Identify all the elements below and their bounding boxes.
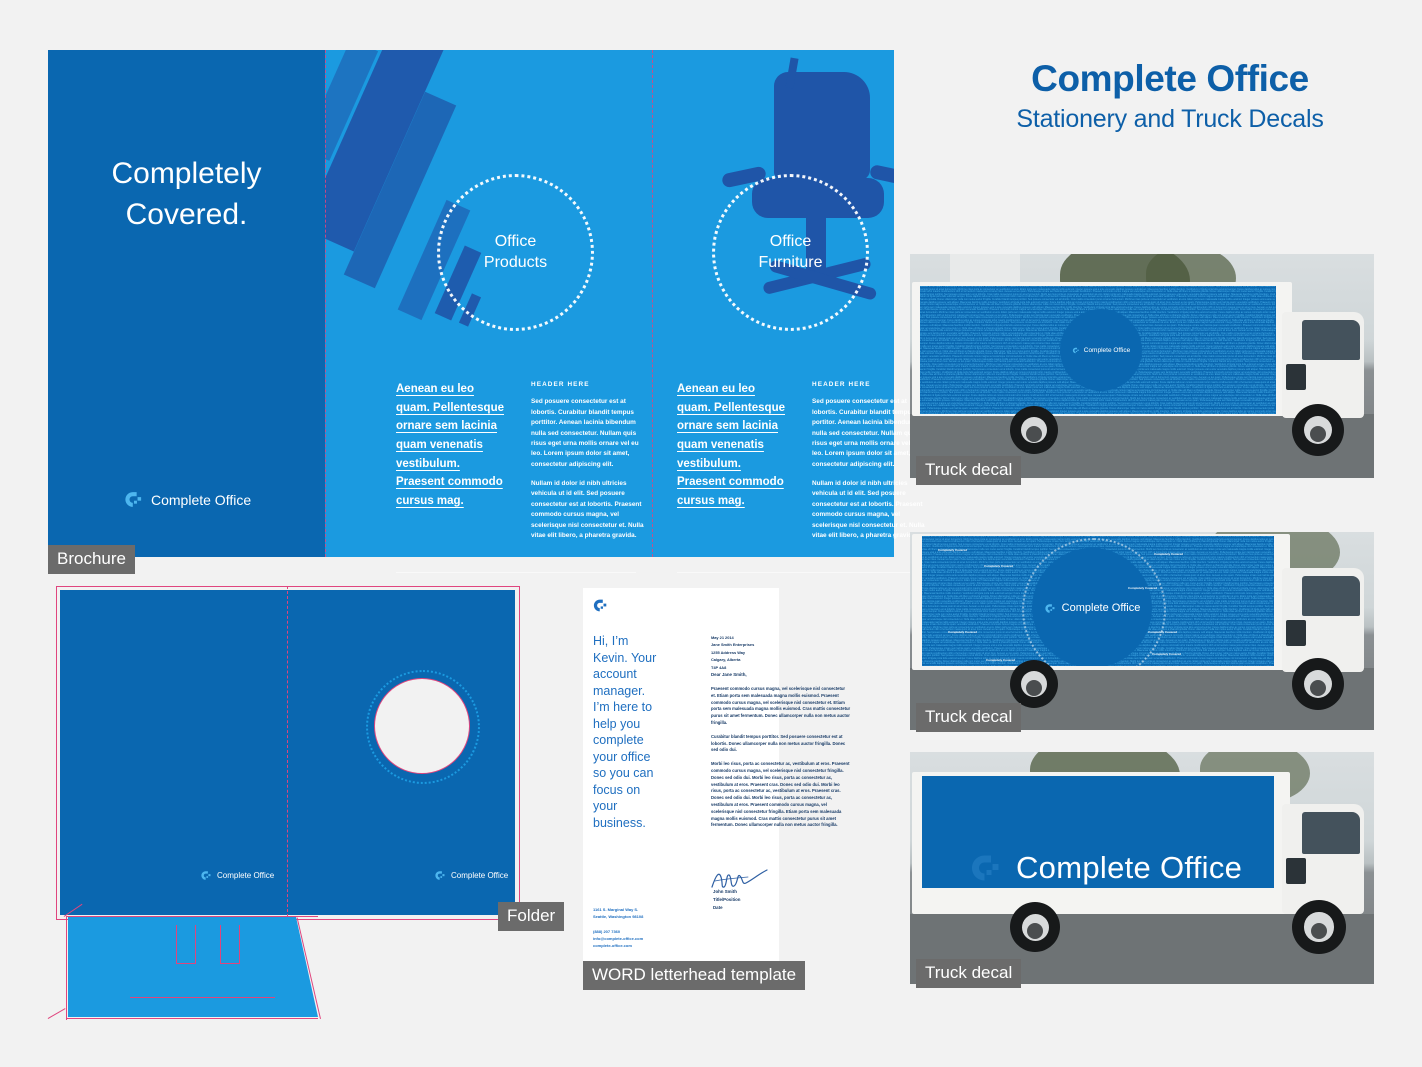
brochure-rule-2: [677, 572, 917, 573]
folder-logo-left-text: Complete Office: [217, 871, 274, 880]
folder-pocket-bottom-cut: [66, 1018, 318, 1019]
letterhead-logo: [592, 598, 607, 618]
caption-letterhead: WORD letterhead template: [583, 961, 805, 990]
truck1-decal-circle: Complete Office: [1060, 309, 1142, 391]
complete-office-logo-icon: [968, 852, 1000, 884]
folder-logo-right: Complete Office: [434, 870, 508, 881]
label-products-line1: Office: [484, 232, 547, 253]
page-title-block: Complete Office Stationery and Truck Dec…: [960, 58, 1380, 134]
folder-mockup[interactable]: Complete Office Complete Office: [48, 585, 568, 1015]
letterhead-mockup[interactable]: Hi, I’m Kevin. Your account manager. I’m…: [583, 588, 779, 968]
brochure-rule-1: [396, 572, 636, 573]
letterhead-body: Praesent commodo cursus magna, vel scele…: [711, 686, 851, 836]
letterhead-para-2: Curabitur blandit tempus porttitor. Sed …: [711, 734, 851, 754]
brochure-lead-1: Aenean eu leo quam. Pellentesque ornare …: [396, 380, 511, 550]
brochure-lead-2: Aenean eu leo quam. Pellentesque ornare …: [677, 380, 792, 550]
folder-circle-hole: [374, 678, 470, 774]
truck2-tag-1: Completely Covered: [938, 548, 967, 552]
brochure-header-1: HEADER HERE: [531, 380, 649, 390]
brochure-mockup[interactable]: Completely Covered. Complete Office Offi…: [48, 50, 894, 557]
brochure-body-1: HEADER HERE Sed posuere consectetur est …: [531, 380, 649, 550]
complete-office-logo-icon: [1044, 603, 1055, 614]
folder-pocket-top-cut: [66, 916, 318, 917]
truck2-tag-3: Completely Covered: [1154, 552, 1183, 556]
truck3-wordmark: Complete Office: [968, 850, 1242, 886]
caption-truck-3: Truck decal: [916, 959, 1021, 988]
brochure-logo: Complete Office: [123, 490, 251, 509]
footer-email[interactable]: info@complete-office.com: [593, 935, 703, 942]
letterhead-salutation: Dear Jane Smith,: [711, 672, 747, 677]
page-title: Complete Office: [960, 58, 1380, 99]
letterhead-signature-name: John Smith: [713, 888, 773, 896]
brochure-circle-label-furniture: Office Furniture: [712, 174, 869, 331]
truck2-decal-circle: Complete Office: [1032, 548, 1152, 666]
letterhead-footer: 1161 S. Marginal Way S. Seattle, Washing…: [593, 906, 703, 957]
caption-brochure: Brochure: [48, 545, 135, 574]
brochure-cover-panel: [48, 50, 325, 557]
truck-decal-mockup-2[interactable]: Aenean eu leo quam. Pellentesque ornare …: [910, 532, 1374, 730]
folder-tab-cut-bottom: [48, 1008, 66, 1019]
complete-office-logo-icon: [123, 490, 142, 509]
complete-office-logo-icon: [592, 598, 607, 613]
folder-logo-right-text: Complete Office: [451, 871, 508, 880]
footer-address-line1: 1161 S. Marginal Way S.: [593, 906, 703, 913]
letterhead-para-3: Morbi leo risus, porta ac consectetur ac…: [711, 761, 851, 829]
truck2-decal-text: Complete Office: [1062, 602, 1141, 614]
brochure-headline-line1: Completely: [48, 153, 325, 194]
complete-office-logo-icon: [1072, 347, 1079, 354]
folder-logo-left: Complete Office: [200, 870, 274, 881]
page-subtitle: Stationery and Truck Decals: [960, 105, 1380, 134]
letterhead-para-1: Praesent commodo cursus magna, vel scele…: [711, 686, 851, 727]
truck2-tag-6: Completely Covered: [1148, 630, 1177, 634]
brochure-para-1b: Nullam id dolor id nibh ultricies vehicu…: [531, 479, 649, 541]
caption-folder: Folder: [498, 902, 564, 931]
brochure-fold-guide-1: [325, 50, 326, 557]
label-products-line2: Products: [484, 253, 547, 274]
letterhead-headline: Hi, I’m Kevin. Your account manager. I’m…: [593, 633, 665, 831]
brochure-logo-text: Complete Office: [151, 492, 251, 508]
truck2-decal: Aenean eu leo quam. Pellentesque ornare …: [922, 536, 1274, 666]
truck1-decal: Aenean eu leo quam. Pellentesque ornare …: [920, 286, 1276, 414]
letterhead-signature-date: Date: [713, 904, 773, 912]
folder-fold-line: [287, 586, 288, 922]
brochure-headline-line2: Covered.: [48, 194, 325, 235]
truck2-tag-4: Completely Covered: [1128, 586, 1157, 590]
truck2-tag-5: Completely Covered: [948, 630, 977, 634]
brochure-para-1a: Sed posuere consectetur est at lobortis.…: [531, 397, 649, 470]
footer-address-line2: Seattle, Washington 98108: [593, 913, 703, 920]
truck2-tag-8: Completely Covered: [1152, 652, 1181, 656]
folder-die-cut-circle: [366, 670, 476, 780]
brochure-cover-headline: Completely Covered.: [48, 153, 325, 236]
footer-web[interactable]: complete-office.com: [593, 942, 703, 949]
caption-truck-2: Truck decal: [916, 703, 1021, 732]
brochure-text-column-2: Aenean eu leo quam. Pellentesque ornare …: [677, 380, 930, 550]
brochure-text-column-1: Aenean eu leo quam. Pellentesque ornare …: [396, 380, 649, 550]
brochure-circle-label-products: Office Products: [437, 174, 594, 331]
letterhead-recipient-block: May 21 2014 Jane Smith Enterprises 1255 …: [711, 634, 773, 671]
brochure-fold-guide-2: [652, 50, 653, 557]
truck-decal-mockup-1[interactable]: Aenean eu leo quam. Pellentesque ornare …: [910, 254, 1374, 478]
truck3-decal-text: Complete Office: [1016, 850, 1242, 886]
truck1-decal-text: Complete Office: [1084, 347, 1130, 354]
complete-office-logo-icon: [434, 870, 445, 881]
caption-truck-1: Truck decal: [916, 456, 1021, 485]
complete-office-logo-icon: [200, 870, 211, 881]
truck2-tag-2: Completely Covered: [984, 564, 1013, 568]
folder-pocket-left-edge: [66, 916, 67, 1020]
letterhead-signature-title: Title/Position: [713, 896, 773, 904]
truck3-decal: Complete Office: [922, 776, 1274, 888]
label-furniture-line2: Furniture: [758, 253, 822, 274]
truck-decal-mockup-3[interactable]: Complete Office: [910, 752, 1374, 984]
truck2-tag-7: Completely Covered: [986, 658, 1015, 662]
letterhead-signature-block: John Smith Title/Position Date: [713, 888, 773, 912]
label-furniture-line1: Office: [758, 232, 822, 253]
footer-phone: (888) 207 7360: [593, 928, 703, 935]
folder-pocket-fold-line: [130, 997, 275, 998]
